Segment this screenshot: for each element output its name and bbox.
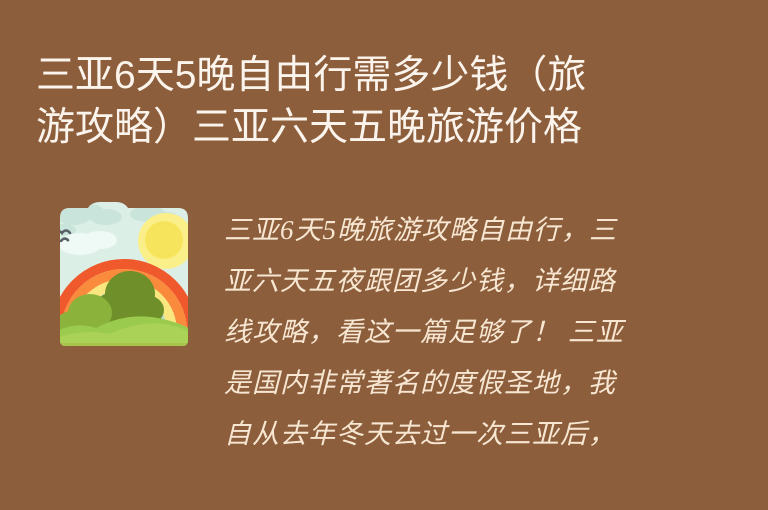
article-body-line-3: 线攻略，看这一篇足够了！ 三亚: [224, 307, 654, 358]
article-body-line-4: 是国内非常著名的度假圣地，我: [224, 358, 654, 409]
article-card: 三亚6天5晚自由行需多少钱（旅 游攻略）三亚六天五晚旅游价格: [0, 0, 768, 510]
ground-strip: [48, 343, 200, 348]
article-body-line-5: 自从去年冬天去过一次三亚后，: [224, 409, 654, 460]
article-body-line-1: 三亚6天5晚旅游攻略自由行，三: [224, 205, 654, 256]
page-title: 三亚6天5晚自由行需多少钱（旅 游攻略）三亚六天五晚旅游价格: [36, 50, 696, 154]
article-body-line-2: 亚六天五夜跟团多少钱，详细路: [224, 256, 654, 307]
landscape-illustration-svg: [48, 200, 200, 348]
page-title-line-1: 三亚6天5晚自由行需多少钱（旅: [36, 50, 696, 102]
sun-icon: [145, 221, 183, 259]
illustration-scene: [48, 200, 200, 348]
article-body: 三亚6天5晚旅游攻略自由行，三 亚六天五夜跟团多少钱，详细路 线攻略，看这一篇足…: [224, 205, 654, 460]
landscape-rainbow-illustration: [48, 200, 200, 348]
page-title-line-2: 游攻略）三亚六天五晚旅游价格: [36, 102, 696, 154]
